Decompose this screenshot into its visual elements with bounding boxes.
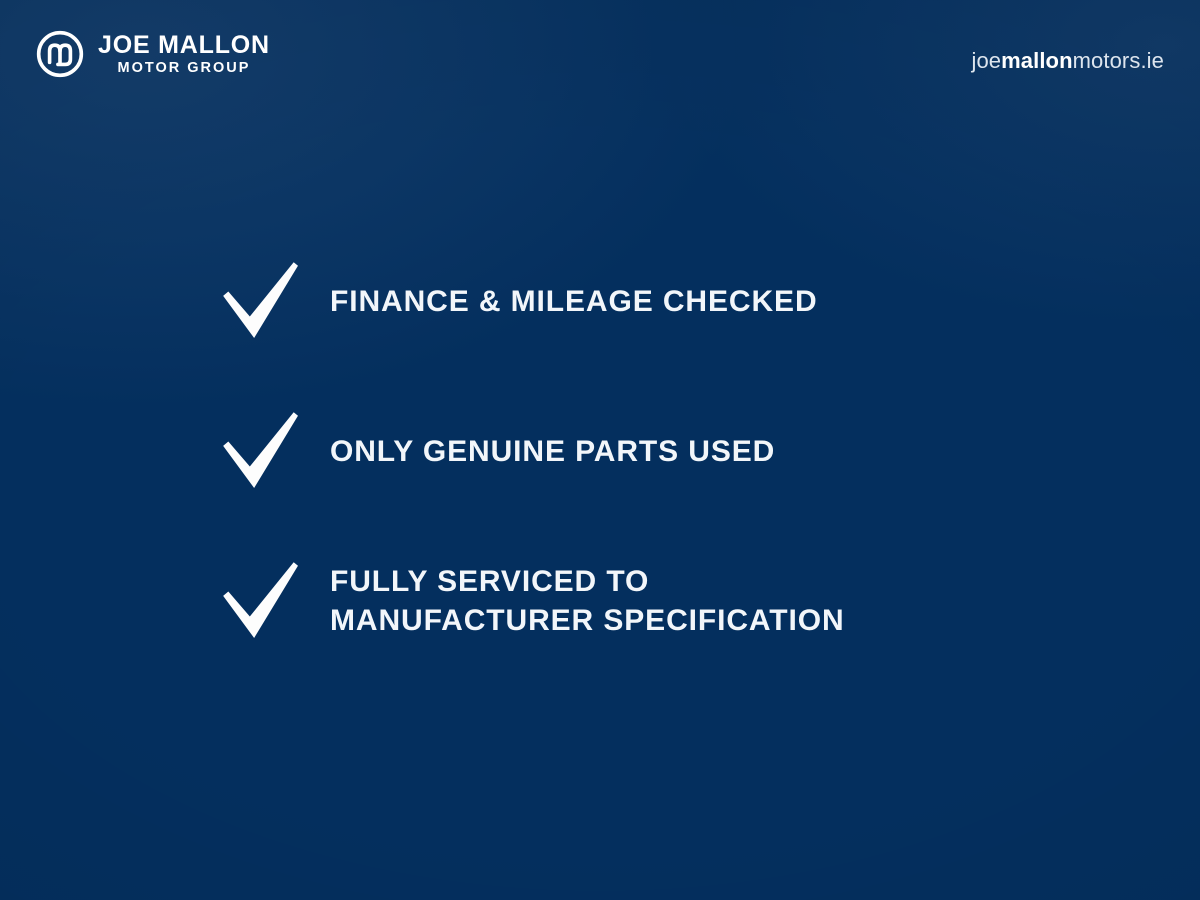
feature-list: FINANCE & MILEAGE CHECKED ONLY GENUINE P…	[218, 252, 1118, 650]
feature-label: FINANCE & MILEAGE CHECKED	[330, 282, 818, 321]
feature-label: ONLY GENUINE PARTS USED	[330, 432, 775, 471]
feature-item: ONLY GENUINE PARTS USED	[218, 402, 1118, 500]
site-url-emphasis: mallon	[1001, 48, 1073, 73]
feature-item: FULLY SERVICED TO MANUFACTURER SPECIFICA…	[218, 552, 1118, 650]
feature-label: FULLY SERVICED TO MANUFACTURER SPECIFICA…	[330, 562, 845, 640]
checkmark-icon	[218, 258, 304, 344]
banner-header: JOE MALLON MOTOR GROUP joemallonmotors.i…	[0, 0, 1200, 110]
checkmark-icon	[218, 408, 304, 494]
brand-name: JOE MALLON	[98, 33, 270, 59]
brand-logo[interactable]: JOE MALLON MOTOR GROUP	[34, 28, 270, 80]
joe-mallon-circular-monogram-icon	[34, 28, 86, 80]
site-url[interactable]: joemallonmotors.ie	[971, 48, 1164, 74]
site-url-prefix: joe	[971, 48, 1001, 73]
feature-item: FINANCE & MILEAGE CHECKED	[218, 252, 1118, 350]
brand-wordmark: JOE MALLON MOTOR GROUP	[98, 31, 270, 78]
promotional-banner: JOE MALLON MOTOR GROUP joemallonmotors.i…	[0, 0, 1200, 900]
brand-tagline: MOTOR GROUP	[98, 59, 270, 77]
site-url-suffix: motors.ie	[1073, 48, 1164, 73]
checkmark-icon	[218, 558, 304, 644]
